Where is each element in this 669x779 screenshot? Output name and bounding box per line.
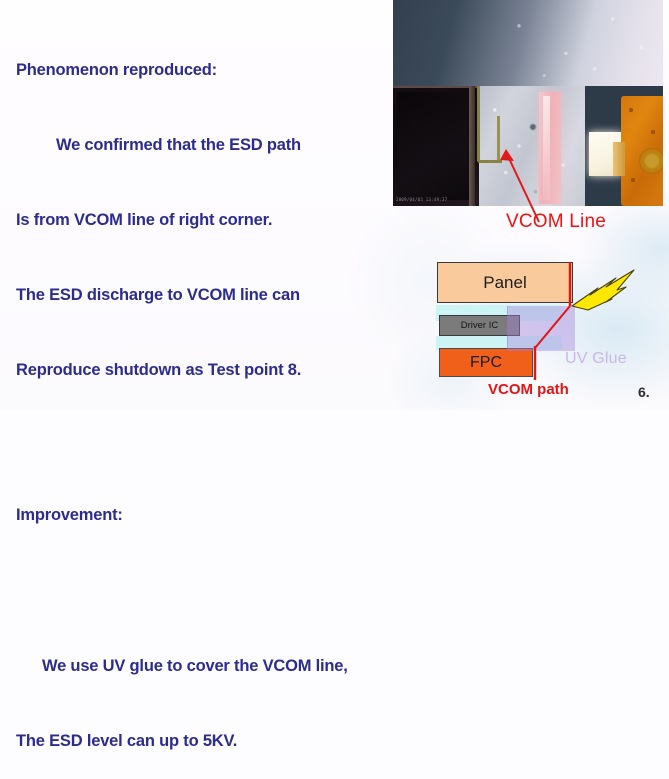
photo-fpc-via-2 [651,130,655,134]
diagram-uv-glue-label: UV Glue [565,350,627,368]
photo-fpc-via-1 [629,108,633,112]
improvement-line-2: The ESD level can up to 5KV. [16,729,396,754]
photo-fpc-solder-ring [639,148,663,174]
diagram-driver-ic-label: Driver IC [461,320,498,331]
phenomenon-line-2: Is from VCOM line of right corner. [16,208,396,233]
page-number: 6. [638,384,650,400]
phenomenon-line-1: We confirmed that the ESD path [16,133,396,158]
photo-vcom-trace-lower [497,116,516,160]
esd-failure-photo: 2009/04/03 13:49:37 [393,0,663,206]
uv-glue-stack-diagram: Panel Driver IC FPC UV Glue VCOM path [420,250,669,410]
improvement-line-1: We use UV glue to cover the VCOM line, [16,654,396,679]
photo-lcd-bezel-edge [469,86,475,206]
phenomenon-line-4: Reproduce shutdown as Test point 8. [16,358,396,383]
diagram-panel-block: Panel [437,262,573,303]
diagram-uv-glue-overlay [507,306,575,351]
photo-pink-tape-highlight [543,96,550,200]
text-spacer-1 [16,433,396,453]
text-spacer-2 [16,578,396,604]
diagram-vcom-path-label: VCOM path [488,381,569,398]
diagram-fpc-block: FPC [439,348,533,377]
photo-timestamp-overlay: 2009/04/03 13:49:37 [396,197,447,202]
photo-fpc-via-3 [631,178,635,182]
vcom-line-caption: VCOM Line [506,211,606,233]
photo-screw-head [528,122,538,132]
diagram-fpc-label: FPC [470,354,502,372]
heading-phenomenon: Phenomenon reproduced: [16,58,396,83]
slide-body-text: Phenomenon reproduced: We confirmed that… [16,8,396,779]
phenomenon-line-3: The ESD discharge to VCOM line can [16,283,396,308]
heading-improvement: Improvement: [16,503,396,528]
diagram-panel-label: Panel [483,273,526,293]
photo-fpc-gold-tab [613,142,625,176]
photo-background-speckle [483,0,663,86]
photo-lcd-active-area [397,92,471,200]
